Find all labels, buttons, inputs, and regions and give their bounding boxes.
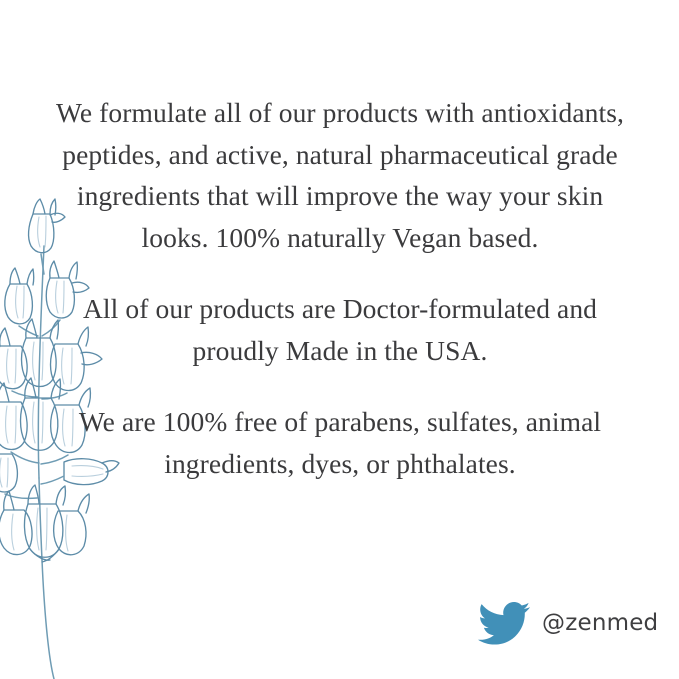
promo-card: We formulate all of our products with an… [0, 0, 679, 679]
paragraph-spacer [46, 258, 634, 288]
twitter-bird-icon[interactable] [478, 601, 530, 645]
paragraph-3: We are 100% free of parabens, sulfates, … [46, 401, 634, 484]
paragraph-2: All of our products are Doctor-formulate… [46, 288, 634, 371]
paragraph-1: We formulate all of our products with an… [46, 92, 634, 258]
paragraph-spacer [46, 371, 634, 401]
twitter-handle-text: @zenmed [542, 612, 658, 635]
body-copy: We formulate all of our products with an… [46, 92, 634, 484]
twitter-handle[interactable]: @zenmed [478, 601, 658, 645]
